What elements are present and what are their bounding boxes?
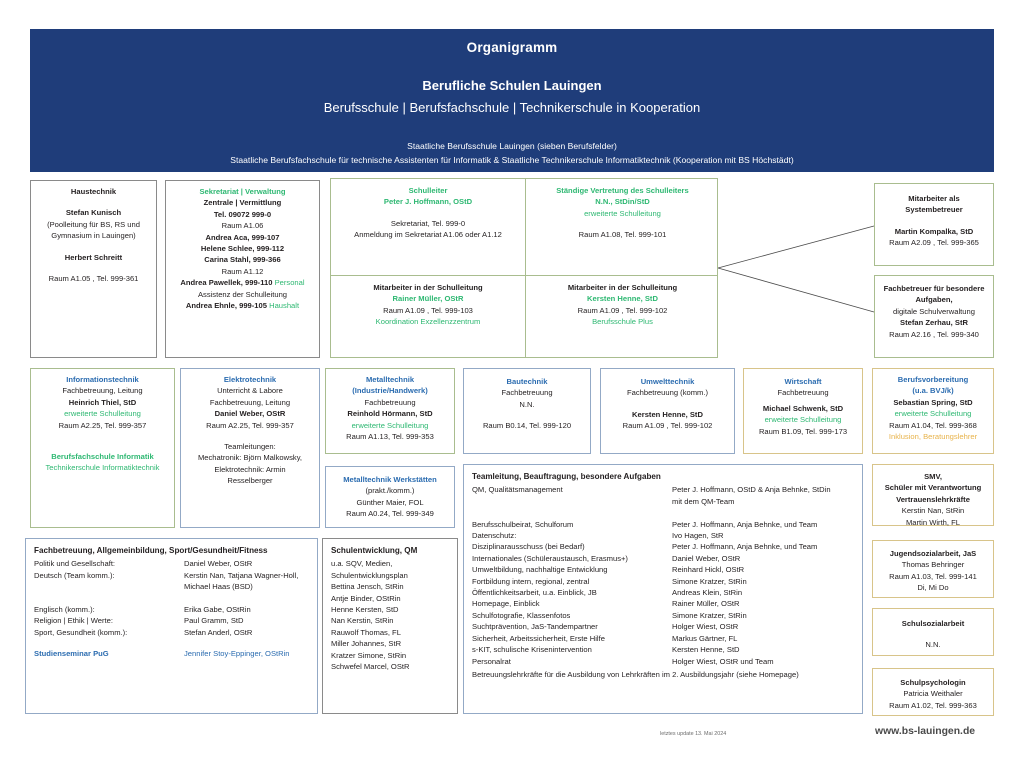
elektrotechnik-team-1: Mechatronik: Björn Malkowsky, (184, 452, 316, 463)
haustechnik-name-2: Herbert Schreitt (34, 252, 153, 263)
mitarbeiter-2-room: Raum A1.09 , Tel. 999-102 (530, 305, 715, 316)
elektrotechnik-name: Daniel Weber, OStR (184, 408, 316, 419)
list-item: Schwefel Marcel, OStR (331, 661, 449, 672)
box-informationstechnik: Informationstechnik Fachbetreuung, Leitu… (30, 368, 175, 528)
list-item-task: Personalrat (472, 656, 672, 667)
sekretariat-person-4-tag: Personal (275, 278, 305, 287)
elektrotechnik-team-2: Elektrotechnik: Armin (184, 464, 316, 475)
sekretariat-person-1: Andrea Aca, 999-107 (169, 232, 316, 243)
box-metalltechnik: Metalltechnik (Industrie/Handwerk) Fachb… (325, 368, 455, 454)
metalltechnik-sub: erweiterte Schulleitung (329, 420, 451, 431)
schulentwicklung-line-1: u.a. SQV, Medien, (331, 558, 449, 569)
fachbetreuer-title-1: Fachbetreuer für besondere (878, 283, 990, 294)
list-item: Politik und Gesellschaft:Daniel Weber, O… (34, 558, 309, 569)
list-item-person: Peter J. Hoffmann, OStD & Anja Behnke, S… (672, 484, 854, 495)
elektrotechnik-team-3: Resselberger (184, 475, 316, 486)
list-item: Umweltbildung, nachhaltige EntwicklungRe… (472, 564, 854, 575)
schulleiter-sekretariat: Sekretariat, Tel. 999-0 (335, 218, 521, 229)
berufsvorbereitung-room: Raum A1.04, Tel. 999-368 (876, 420, 990, 431)
list-item-person: Holger Wiest, OStR (672, 621, 854, 632)
list-item: Miller Johannes, StR (331, 638, 449, 649)
list-item: Religion | Ethik | Werte:Paul Gramm, StD (34, 615, 309, 626)
list-item-person (672, 507, 854, 518)
smv-person-1: Kerstin Nan, StRin (876, 505, 990, 516)
metalltechnik-title-2: (Industrie/Handwerk) (329, 385, 451, 396)
list-item-person: Paul Gramm, StD (184, 615, 309, 626)
list-item: Kratzer Simone, StRin (331, 650, 449, 661)
elektrotechnik-title: Elektrotechnik (184, 374, 316, 385)
list-item-person: Peter J. Hoffmann, Anja Behnke, und Team (672, 541, 854, 552)
cell-mitarbeiter-2: Mitarbeiter in der Schulleitung Kersten … (526, 276, 719, 358)
sekretariat-zentrale: Zentrale | Vermittlung (169, 197, 316, 208)
schulpsychologin-name: Patricia Weithaler (876, 688, 990, 699)
informationstechnik-title: Informationstechnik (34, 374, 171, 385)
list-item-task: Sicherheit, Arbeitssicherheit, Erste Hil… (472, 633, 672, 644)
mitarbeiter-1-room: Raum A1.09 , Tel. 999-103 (335, 305, 521, 316)
mitarbeiter-2-title: Mitarbeiter in der Schulleitung (530, 282, 715, 293)
fachbetreuung-ab-title: Fachbetreuung, Allgemeinbildung, Sport/G… (34, 545, 309, 556)
list-item: Datenschutz:Ivo Hagen, StR (472, 530, 854, 541)
list-item: Antje Binder, OStRin (331, 593, 449, 604)
studienseminar-person: Jennifer Stoy-Eppinger, OStRin (184, 648, 309, 659)
berufsvorbereitung-note: Inklusion, Beratungslehrer (876, 431, 990, 442)
list-item-task: Suchtprävention, JaS-Tandempartner (472, 621, 672, 632)
school-subtitle: Berufsschule | Berufsfachschule | Techni… (30, 100, 994, 115)
sekretariat-title: Sekretariat | Verwaltung (169, 186, 316, 197)
metalltechnik-room: Raum A1.13, Tel. 999-353 (329, 431, 451, 442)
teamleitung-rows: QM, QualitätsmanagementPeter J. Hoffmann… (472, 484, 854, 667)
box-jugendsozialarbeit: Jugendsozialarbeit, JaS Thomas Behringer… (872, 540, 994, 598)
sekretariat-room-1: Raum A1.06 (169, 220, 316, 231)
sekretariat-room-2: Raum A1.12 (169, 266, 316, 277)
bautechnik-room: Raum B0.14, Tel. 999-120 (467, 420, 587, 431)
informationstechnik-name: Heinrich Thiel, StD (34, 397, 171, 408)
box-fachbetreuer-besondere: Fachbetreuer für besondere Aufgaben, dig… (874, 275, 994, 358)
list-item-person: Ivo Hagen, StR (672, 530, 854, 541)
informationstechnik-extra-2: Technikerschule Informatiktechnik (34, 462, 171, 473)
metall-werk-room: Raum A0.24, Tel. 999-349 (329, 508, 451, 519)
fachbetreuer-title-2: Aufgaben, (878, 294, 990, 305)
list-item-person: Kerstin Nan, Tatjana Wagner-Holl, (184, 570, 309, 581)
list-item-task (472, 496, 672, 507)
studienseminar-row: Studienseminar PuG Jennifer Stoy-Eppinge… (34, 648, 309, 659)
wirtschaft-title: Wirtschaft (747, 376, 859, 387)
jas-room: Raum A1.03, Tel. 999-141 (876, 571, 990, 582)
sekretariat-person-4-name: Andrea Pawellek, 999-110 (180, 278, 272, 287)
list-item-person: Peter J. Hoffmann, Anja Behnke, und Team (672, 519, 854, 530)
list-item: PersonalratHolger Wiest, OStR und Team (472, 656, 854, 667)
page-title: Organigramm (30, 40, 994, 55)
berufsvorbereitung-sub: erweiterte Schulleitung (876, 408, 990, 419)
box-umwelttechnik: Umwelttechnik Fachbetreuung (komm.) Kers… (600, 368, 735, 454)
smv-person-2: Martin Wirth, FL (876, 517, 990, 528)
systembetreuer-room: Raum A2.09 , Tel. 999-365 (878, 237, 990, 248)
list-item: Berufsschulbeirat, SchulforumPeter J. Ho… (472, 519, 854, 530)
box-schulleitung: Schulleiter Peter J. Hoffmann, OStD Sekr… (330, 178, 718, 358)
fachbetreuung-ab-rows: Politik und Gesellschaft:Daniel Weber, O… (34, 558, 309, 638)
list-item-task: Politik und Gesellschaft: (34, 558, 184, 569)
list-item: Internationales (Schüleraustausch, Erasm… (472, 553, 854, 564)
list-item-task: Umweltbildung, nachhaltige Entwicklung (472, 564, 672, 575)
list-item: Suchtprävention, JaS-TandempartnerHolger… (472, 621, 854, 632)
box-bautechnik: Bautechnik Fachbetreuung N.N. Raum B0.14… (463, 368, 591, 454)
smv-title-2: Schüler mit Verantwortung (876, 482, 990, 493)
box-schulsozialarbeit: Schulsozialarbeit N.N. (872, 608, 994, 656)
list-item: Sport, Gesundheit (komm.):Stefan Anderl,… (34, 627, 309, 638)
list-item-task: Englisch (komm.): (34, 604, 184, 615)
schulsozialarbeit-title: Schulsozialarbeit (876, 618, 990, 629)
list-item-person: Michael Haas (BSD) (184, 581, 309, 592)
haustechnik-name-1: Stefan Kunisch (34, 207, 153, 218)
systembetreuer-title-2: Systembetreuer (878, 204, 990, 215)
umwelttechnik-room: Raum A1.09 , Tel. 999-102 (604, 420, 731, 431)
schulleiter-name: Peter J. Hoffmann, OStD (335, 196, 521, 207)
sekretariat-person-4: Andrea Pawellek, 999-110 Personal (169, 277, 316, 288)
list-item: Schulfotografie, KlassenfotosSimone Krat… (472, 610, 854, 621)
list-item-person: Kersten Henne, StD (672, 644, 854, 655)
list-item: Bettina Jensch, StRin (331, 581, 449, 592)
list-item-person: Erika Gabe, OStRin (184, 604, 309, 615)
list-item-task: Internationales (Schüleraustausch, Erasm… (472, 553, 672, 564)
vertretung-title: Ständige Vertretung des Schulleiters (530, 185, 715, 196)
systembetreuer-title-1: Mitarbeiter als (878, 193, 990, 204)
list-item-person: Markus Gärtner, FL (672, 633, 854, 644)
list-item-task: Fortbildung intern, regional, zentral (472, 576, 672, 587)
list-item-task: Deutsch (Team komm.): (34, 570, 184, 581)
bautechnik-title: Bautechnik (467, 376, 587, 387)
box-teamleitung: Teamleitung, Beauftragung, besondere Auf… (463, 464, 863, 714)
list-item (34, 593, 309, 604)
list-item-task: Religion | Ethik | Werte: (34, 615, 184, 626)
teamleitung-footnote: Betreuungslehrkräfte für die Ausbildung … (472, 669, 854, 680)
vertretung-name: N.N., StDin/StD (530, 196, 715, 207)
metall-werk-sub: (prakt./komm.) (329, 485, 451, 496)
box-fachbetreuung-allgemeinbildung: Fachbetreuung, Allgemeinbildung, Sport/G… (25, 538, 318, 714)
list-item: Öffentlichkeitsarbeit, u.a. Einblick, JB… (472, 587, 854, 598)
elektrotechnik-room: Raum A2.25, Tel. 999-357 (184, 420, 316, 431)
informationstechnik-role: Fachbetreuung, Leitung (34, 385, 171, 396)
jas-name: Thomas Behringer (876, 559, 990, 570)
list-item: Henne Kersten, StD (331, 604, 449, 615)
vertretung-room: Raum A1.08, Tel. 999-101 (530, 229, 715, 240)
metall-werk-title: Metalltechnik Werkstätten (329, 474, 451, 485)
cell-vertretung: Ständige Vertretung des Schulleiters N.N… (526, 179, 719, 275)
list-item-task: Berufsschulbeirat, Schulforum (472, 519, 672, 530)
smv-title-1: SMV, (876, 471, 990, 482)
schulpsychologin-room: Raum A1.02, Tel. 999-363 (876, 700, 990, 711)
box-wirtschaft: Wirtschaft Fachbetreuung Michael Schwenk… (743, 368, 863, 454)
list-item: Homepage, EinblickRainer Müller, OStR (472, 598, 854, 609)
sekretariat-tel: Tel. 09072 999-0 (169, 209, 316, 220)
list-item: Disziplinarausschuss (bei Bedarf)Peter J… (472, 541, 854, 552)
list-item-task: QM, Qualitätsmanagement (472, 484, 672, 495)
haustechnik-room: Raum A1.05 , Tel. 999-361 (34, 273, 153, 284)
list-item-person: Simone Kratzer, StRin (672, 576, 854, 587)
informationstechnik-room: Raum A2.25, Tel. 999-357 (34, 420, 171, 431)
box-sekretariat: Sekretariat | Verwaltung Zentrale | Verm… (165, 180, 320, 358)
berufsvorbereitung-title-1: Berufsvorbereitung (876, 374, 990, 385)
schulpsychologin-title: Schulpsychologin (876, 677, 990, 688)
umwelttechnik-role: Fachbetreuung (komm.) (604, 387, 731, 398)
haustechnik-title: Haustechnik (34, 186, 153, 197)
box-schulentwicklung: Schulentwicklung, QM u.a. SQV, Medien, S… (322, 538, 458, 714)
systembetreuer-name: Martin Kompalka, StD (878, 226, 990, 237)
jas-title: Jugendsozialarbeit, JaS (876, 548, 990, 559)
sekretariat-person-2: Helene Schlee, 999-112 (169, 243, 316, 254)
sekretariat-person-3: Carina Stahl, 999-366 (169, 254, 316, 265)
fachbetreuer-name: Stefan Zerhau, StR (878, 317, 990, 328)
wirtschaft-sub: erweiterte Schulleitung (747, 414, 859, 425)
list-item: Sicherheit, Arbeitssicherheit, Erste Hil… (472, 633, 854, 644)
sekretariat-person-5-tag: Haushalt (269, 301, 299, 310)
metalltechnik-title-1: Metalltechnik (329, 374, 451, 385)
smv-title-3: Vertrauenslehrkräfte (876, 494, 990, 505)
metalltechnik-name: Reinhold Hörmann, StD (329, 408, 451, 419)
schulentwicklung-members: Bettina Jensch, StRinAntje Binder, OStRi… (331, 581, 449, 672)
sekretariat-assistenz: Assistenz der Schulleitung (169, 289, 316, 300)
sekretariat-person-5-name: Andrea Ehnle, 999-105 (186, 301, 267, 310)
box-berufsvorbereitung: Berufsvorbereitung (u.a. BVJ/k) Sebastia… (872, 368, 994, 454)
list-item-person (184, 593, 309, 604)
sekretariat-person-5: Andrea Ehnle, 999-105 Haushalt (169, 300, 316, 311)
elektrotechnik-line-2: Fachbetreuung, Leitung (184, 397, 316, 408)
box-systembetreuer: Mitarbeiter als Systembetreuer Martin Ko… (874, 183, 994, 266)
list-item-person: Rainer Müller, OStR (672, 598, 854, 609)
list-item-person: Holger Wiest, OStR und Team (672, 656, 854, 667)
list-item-person: mit dem QM-Team (672, 496, 854, 507)
informationstechnik-extra-1: Berufsfachschule Informatik (34, 451, 171, 462)
list-item: Rauwolf Thomas, FL (331, 627, 449, 638)
list-item-person: Daniel Weber, OStR (672, 553, 854, 564)
list-item-person: Simone Kratzer, StRin (672, 610, 854, 621)
list-item-person: Daniel Weber, OStR (184, 558, 309, 569)
wirtschaft-role: Fachbetreuung (747, 387, 859, 398)
list-item: mit dem QM-Team (472, 496, 854, 507)
header-banner: Organigramm Berufliche Schulen Lauingen … (30, 29, 994, 172)
list-item-task (34, 593, 184, 604)
box-elektrotechnik: Elektrotechnik Unterricht & Labore Fachb… (180, 368, 320, 528)
footer-url[interactable]: www.bs-lauingen.de (875, 726, 975, 737)
cell-schulleiter: Schulleiter Peter J. Hoffmann, OStD Sekr… (331, 179, 525, 275)
berufsvorbereitung-title-2: (u.a. BVJ/k) (876, 385, 990, 396)
informationstechnik-sub: erweiterte Schulleitung (34, 408, 171, 419)
box-smv: SMV, Schüler mit Verantwortung Vertrauen… (872, 464, 994, 526)
school-detail-line-1: Staatliche Berufsschule Lauingen (sieben… (30, 141, 994, 151)
list-item-task: Schulfotografie, Klassenfotos (472, 610, 672, 621)
list-item: s-KIT, schulische KriseninterventionKers… (472, 644, 854, 655)
wirtschaft-room: Raum B1.09, Tel. 999-173 (747, 426, 859, 437)
footer-update: letztes update 13. Mai 2024 (660, 731, 726, 737)
list-item-person: Reinhard Hickl, OStR (672, 564, 854, 575)
mitarbeiter-1-title: Mitarbeiter in der Schulleitung (335, 282, 521, 293)
list-item-task: Homepage, Einblick (472, 598, 672, 609)
list-item: Deutsch (Team komm.):Kerstin Nan, Tatjan… (34, 570, 309, 581)
elektrotechnik-teams-label: Teamleitungen: (184, 441, 316, 452)
umwelttechnik-name: Kersten Henne, StD (604, 409, 731, 420)
list-item (472, 507, 854, 518)
list-item-person: Andreas Klein, StRin (672, 587, 854, 598)
list-item: Fortbildung intern, regional, zentralSim… (472, 576, 854, 587)
list-item-task: Datenschutz: (472, 530, 672, 541)
list-item: QM, QualitätsmanagementPeter J. Hoffmann… (472, 484, 854, 495)
schulentwicklung-line-2: Schulentwicklungsplan (331, 570, 449, 581)
fachbetreuer-room: Raum A2.16 , Tel. 999-340 (878, 329, 990, 340)
mitarbeiter-2-name: Kersten Henne, StD (530, 293, 715, 304)
wirtschaft-name: Michael Schwenk, StD (747, 403, 859, 414)
teamleitung-title: Teamleitung, Beauftragung, besondere Auf… (472, 471, 854, 482)
box-metalltechnik-werkstaetten: Metalltechnik Werkstätten (prakt./komm.)… (325, 466, 455, 528)
list-item: Englisch (komm.):Erika Gabe, OStRin (34, 604, 309, 615)
mitarbeiter-2-note: Berufsschule Plus (530, 316, 715, 327)
studienseminar-label: Studienseminar PuG (34, 648, 184, 659)
mitarbeiter-1-note: Koordination Exzellenzzentrum (335, 316, 521, 327)
elektrotechnik-line-1: Unterricht & Labore (184, 385, 316, 396)
jas-hours: Di, Mi Do (876, 582, 990, 593)
mitarbeiter-1-name: Rainer Müller, OStR (335, 293, 521, 304)
list-item-task: Öffentlichkeitsarbeit, u.a. Einblick, JB (472, 587, 672, 598)
vertretung-sub: erweiterte Schulleitung (530, 208, 715, 219)
haustechnik-note-1: (Poolleitung für BS, RS und (34, 219, 153, 230)
umwelttechnik-title: Umwelttechnik (604, 376, 731, 387)
bautechnik-name: N.N. (467, 399, 587, 410)
list-item-task (472, 507, 672, 518)
schulsozialarbeit-name: N.N. (876, 639, 990, 650)
school-detail-line-2: Staatliche Berufsfachschule für technisc… (30, 155, 994, 165)
fachbetreuer-sub: digitale Schulverwaltung (878, 306, 990, 317)
box-haustechnik: Haustechnik Stefan Kunisch (Poolleitung … (30, 180, 157, 358)
list-item-task: Disziplinarausschuss (bei Bedarf) (472, 541, 672, 552)
list-item-task: s-KIT, schulische Krisenintervention (472, 644, 672, 655)
cell-mitarbeiter-1: Mitarbeiter in der Schulleitung Rainer M… (331, 276, 525, 358)
list-item-task: Sport, Gesundheit (komm.): (34, 627, 184, 638)
haustechnik-note-2: Gymnasium in Lauingen) (34, 230, 153, 241)
list-item: Nan Kerstin, StRin (331, 615, 449, 626)
bautechnik-role: Fachbetreuung (467, 387, 587, 398)
list-item: Michael Haas (BSD) (34, 581, 309, 592)
schulleiter-title: Schulleiter (335, 185, 521, 196)
schulentwicklung-title: Schulentwicklung, QM (331, 545, 449, 556)
school-name: Berufliche Schulen Lauingen (30, 78, 994, 93)
berufsvorbereitung-name: Sebastian Spring, StD (876, 397, 990, 408)
metall-werk-name: Günther Maier, FOL (329, 497, 451, 508)
list-item-person: Stefan Anderl, OStR (184, 627, 309, 638)
box-schulpsychologin: Schulpsychologin Patricia Weithaler Raum… (872, 668, 994, 716)
metalltechnik-role: Fachbetreuung (329, 397, 451, 408)
list-item-task (34, 581, 184, 592)
schulleiter-anmeldung: Anmeldung im Sekretariat A1.06 oder A1.1… (335, 229, 521, 240)
